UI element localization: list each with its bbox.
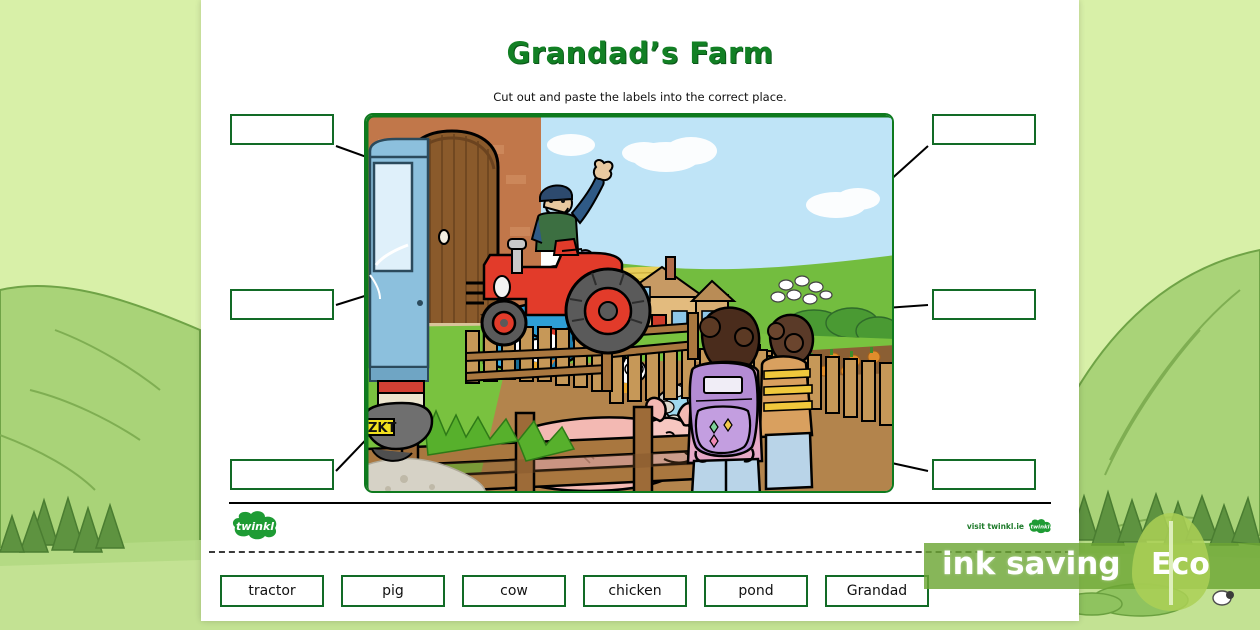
worksheet-sheet: Grandad’s Farm Cut out and paste the lab… bbox=[201, 0, 1079, 621]
svg-text:twinkl: twinkl bbox=[1030, 525, 1049, 531]
answer-box-right-middle[interactable] bbox=[932, 289, 1036, 320]
cut-label-pond[interactable]: pond bbox=[704, 575, 808, 607]
answer-box-left-bottom[interactable] bbox=[230, 459, 334, 490]
twinkl-logo: twinkl bbox=[229, 510, 281, 540]
cut-label-chicken[interactable]: chicken bbox=[583, 575, 687, 607]
blue-trailer: ZKT bbox=[366, 139, 432, 461]
footer-divider bbox=[229, 502, 1051, 504]
visit-twinkl-text: visit twinkl.ie bbox=[967, 522, 1024, 531]
screenshot-root: Grandad’s Farm Cut out and paste the lab… bbox=[0, 0, 1260, 630]
farm-scene-illustration: ZKT bbox=[364, 113, 894, 493]
eco-word-text: Eco bbox=[1151, 547, 1210, 582]
ink-saving-eco-badge: ink saving Eco bbox=[924, 535, 1260, 630]
answer-box-left-top[interactable] bbox=[230, 114, 334, 145]
page-title: Grandad’s Farm bbox=[201, 36, 1079, 70]
cut-label-pig[interactable]: pig bbox=[341, 575, 445, 607]
instruction-text: Cut out and paste the labels into the co… bbox=[201, 90, 1079, 104]
cut-label-grandad[interactable]: Grandad bbox=[825, 575, 929, 607]
svg-text:twinkl: twinkl bbox=[236, 520, 274, 533]
twinkl-logo-small: twinkl bbox=[1027, 516, 1053, 536]
cut-label-cow[interactable]: cow bbox=[462, 575, 566, 607]
cut-label-tractor[interactable]: tractor bbox=[220, 575, 324, 607]
answer-box-right-top[interactable] bbox=[932, 114, 1036, 145]
eco-ink-saving-text: ink saving bbox=[942, 546, 1121, 582]
answer-box-left-middle[interactable] bbox=[230, 289, 334, 320]
svg-text:ZKT: ZKT bbox=[368, 421, 397, 436]
children bbox=[688, 308, 813, 493]
answer-box-right-bottom[interactable] bbox=[932, 459, 1036, 490]
